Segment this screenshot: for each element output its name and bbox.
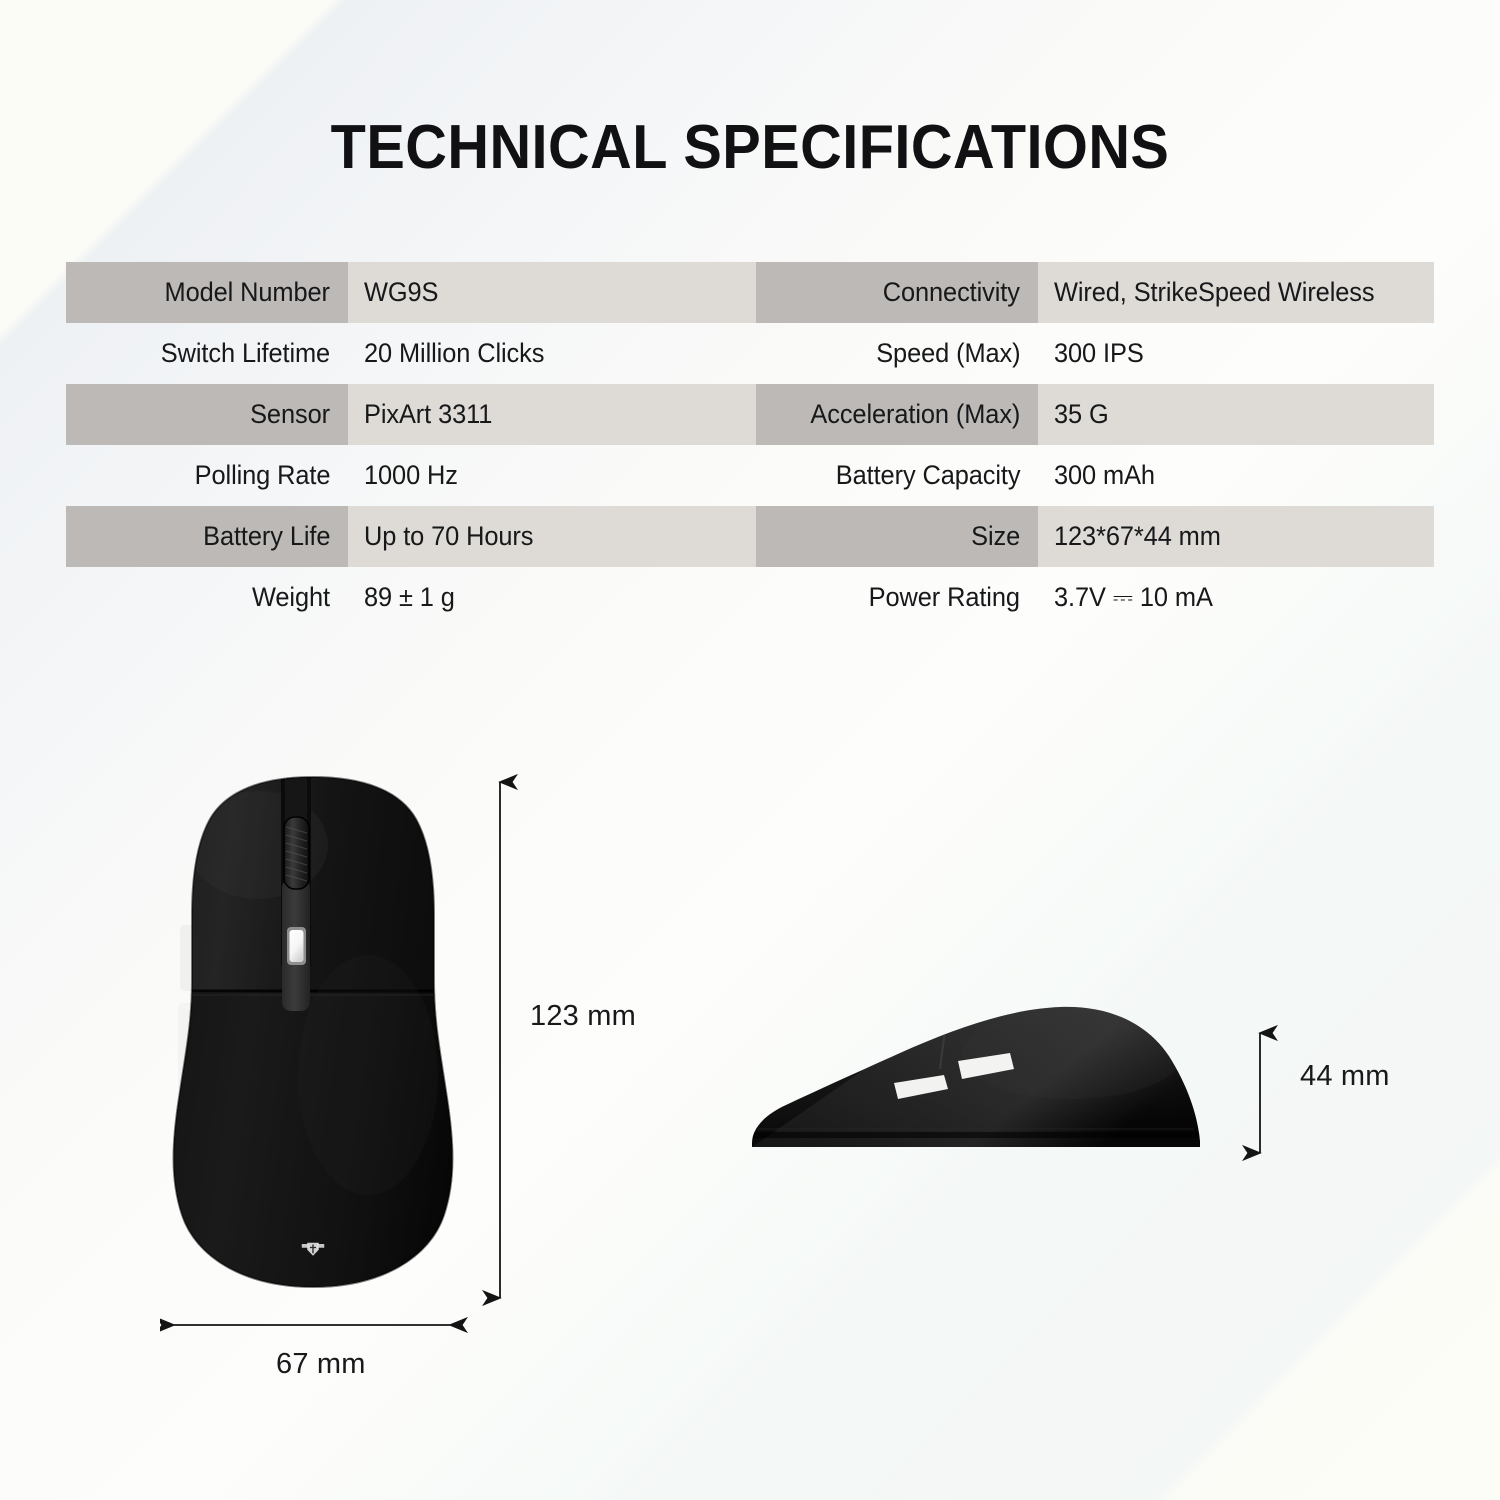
- spec-value: 35 G: [1038, 384, 1434, 445]
- table-row: Model Number WG9S Connectivity Wired, St…: [66, 262, 1434, 323]
- specifications-table: Model Number WG9S Connectivity Wired, St…: [66, 262, 1434, 628]
- spec-value-text: PixArt 3311: [364, 399, 492, 430]
- spec-label: Polling Rate: [66, 445, 348, 506]
- spec-value-text: 3.7V ⎓ 10 mA: [1054, 582, 1213, 614]
- table-row: Polling Rate 1000 Hz Battery Capacity 30…: [66, 445, 1434, 506]
- spec-value: 1000 Hz: [348, 445, 756, 506]
- table-row: Battery Life Up to 70 Hours Size 123*67*…: [66, 506, 1434, 567]
- page-title: TECHNICAL SPECIFICATIONS: [53, 112, 1448, 183]
- spec-value-text: 123*67*44 mm: [1054, 521, 1221, 552]
- spec-label-text: Weight: [252, 582, 330, 613]
- spec-label-text: Connectivity: [883, 277, 1020, 308]
- spec-label: Acceleration (Max): [756, 384, 1038, 445]
- spec-label: Battery Life: [66, 506, 348, 567]
- spec-label-text: Size: [971, 521, 1020, 552]
- spec-value-text: 35 G: [1054, 399, 1109, 430]
- spec-value: 3.7V ⎓ 10 mA: [1038, 567, 1434, 628]
- spec-label: Battery Capacity: [756, 445, 1038, 506]
- spec-value: 123*67*44 mm: [1038, 506, 1434, 567]
- spec-label-text: Switch Lifetime: [161, 338, 330, 369]
- spec-label-text: Battery Capacity: [835, 460, 1020, 491]
- page-background: [0, 0, 1500, 1500]
- table-row: Weight 89 ± 1 g Power Rating 3.7V ⎓ 10 m…: [66, 567, 1434, 628]
- spec-label: Speed (Max): [756, 323, 1038, 384]
- spec-label-text: Battery Life: [203, 521, 330, 552]
- spec-label-text: Model Number: [165, 277, 330, 308]
- spec-value-text: 1000 Hz: [364, 460, 458, 491]
- spec-value-text: 300 IPS: [1054, 338, 1144, 369]
- spec-label-text: Acceleration (Max): [810, 399, 1020, 430]
- spec-label: Sensor: [66, 384, 348, 445]
- spec-value-text: 89 ± 1 g: [364, 582, 455, 613]
- width-dimension-label: 67 mm: [276, 1348, 366, 1381]
- spec-label: Size: [756, 506, 1038, 567]
- spec-label: Model Number: [66, 262, 348, 323]
- spec-label: Power Rating: [756, 567, 1038, 628]
- spec-label-text: Polling Rate: [194, 460, 330, 491]
- table-row: Switch Lifetime 20 Million Clicks Speed …: [66, 323, 1434, 384]
- spec-value: 20 Million Clicks: [348, 323, 756, 384]
- spec-value: PixArt 3311: [348, 384, 756, 445]
- spec-value-text: 300 mAh: [1054, 460, 1155, 491]
- depth-dimension-label: 44 mm: [1300, 1060, 1390, 1093]
- spec-label: Switch Lifetime: [66, 323, 348, 384]
- spec-value: 300 mAh: [1038, 445, 1434, 506]
- spec-value: 300 IPS: [1038, 323, 1434, 384]
- spec-value: Wired, StrikeSpeed Wireless: [1038, 262, 1434, 323]
- spec-value-text: Up to 70 Hours: [364, 521, 533, 552]
- spec-value: 89 ± 1 g: [348, 567, 756, 628]
- table-row: Sensor PixArt 3311 Acceleration (Max) 35…: [66, 384, 1434, 445]
- spec-value: WG9S: [348, 262, 756, 323]
- spec-label: Weight: [66, 567, 348, 628]
- spec-value-text: Wired, StrikeSpeed Wireless: [1054, 277, 1374, 308]
- spec-label-text: Speed (Max): [876, 338, 1020, 369]
- spec-value-text: WG9S: [364, 277, 438, 308]
- spec-value-text: 20 Million Clicks: [364, 338, 544, 369]
- spec-value: Up to 70 Hours: [348, 506, 756, 567]
- spec-label-text: Sensor: [250, 399, 330, 430]
- spec-label: Connectivity: [756, 262, 1038, 323]
- spec-label-text: Power Rating: [869, 582, 1020, 613]
- height-dimension-label: 123 mm: [530, 1000, 636, 1033]
